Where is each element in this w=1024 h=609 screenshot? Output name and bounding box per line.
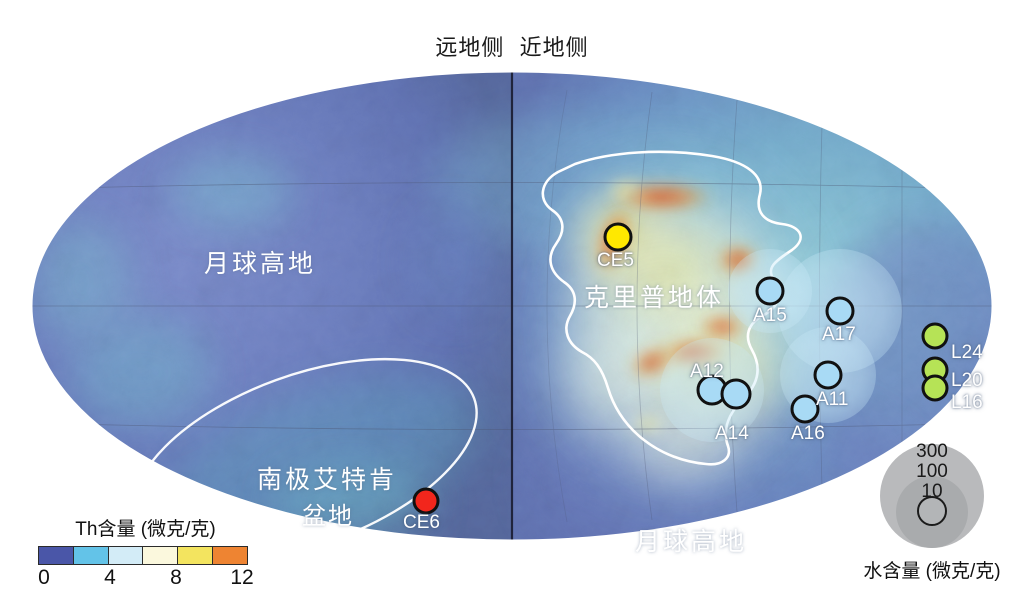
water-bubble-legend: 300 100 10 水含量 (微克/克) [862,444,1002,583]
th-colorbar-ticks: 04812 [38,566,248,592]
th-legend-title: Th含量 (微克/克) [38,514,253,541]
site-marker-L24[interactable] [923,324,947,348]
th-colorbar-segment-1 [74,547,109,564]
th-colorbar [38,546,248,565]
site-marker-A17[interactable] [827,298,853,324]
site-marker-CE5[interactable] [605,224,631,250]
lunar-map-figure: 远地侧 近地侧 [0,0,1024,609]
water-value-300: 300 [916,442,948,461]
water-value-100: 100 [916,462,948,481]
th-colorbar-segment-0 [39,547,74,564]
water-value-10: 10 [921,482,942,501]
site-marker-A16[interactable] [792,396,818,422]
th-colorbar-segment-3 [143,547,178,564]
site-marker-A15[interactable] [757,278,783,304]
th-colorbar-segment-5 [213,547,247,564]
th-colorbar-segment-4 [178,547,213,564]
th-tick-0: 0 [38,566,50,590]
site-marker-A14[interactable] [722,380,750,408]
th-tick-12: 12 [230,566,253,590]
th-colorbar-legend: Th含量 (微克/克) 04812 [38,514,253,592]
nearside-label: 近地侧 [516,35,593,60]
water-legend-title: 水含量 (微克/克) [862,556,1002,583]
site-marker-CE6[interactable] [414,489,438,513]
site-marker-A11[interactable] [815,362,841,388]
th-colorbar-segment-2 [109,547,144,564]
farside-label: 远地侧 [431,35,508,60]
th-tick-8: 8 [170,566,182,590]
site-marker-L16[interactable] [923,376,947,400]
th-tick-4: 4 [104,566,116,590]
moon-map-svg [22,72,1002,540]
hemisphere-labels: 远地侧 近地侧 [0,30,1024,62]
moon-map: 月球高地克里普地体南极艾特肯盆地月球高地 CE5CE6A15A17A11A16A… [22,72,1002,540]
water-legend-bubbles: 300 100 10 [873,444,991,548]
